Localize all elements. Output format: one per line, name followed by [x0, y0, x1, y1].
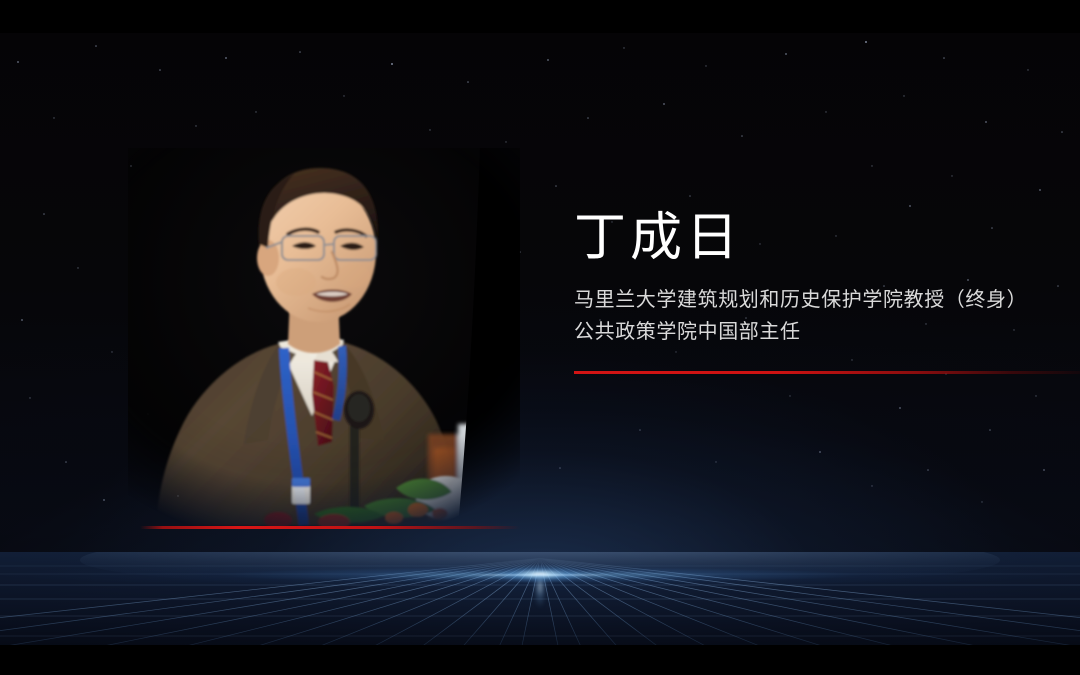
speaker-name: 丁成日 [574, 206, 1044, 270]
speaker-info: 丁成日 马里兰大学建筑规划和历史保护学院教授（终身） 公共政策学院中国部主任 [574, 206, 1044, 348]
speaker-photo-image [128, 148, 520, 526]
speaker-info-underline-rule [574, 371, 1080, 374]
speaker-photo [128, 148, 520, 526]
horizon-light-spike [520, 566, 560, 608]
photo-underline-rule [140, 526, 520, 529]
speaker-title-line-2: 公共政策学院中国部主任 [574, 316, 1044, 348]
slide-stage: 丁成日 马里兰大学建筑规划和历史保护学院教授（终身） 公共政策学院中国部主任 [0, 0, 1080, 675]
letterbox-bottom [0, 645, 1080, 675]
letterbox-top [0, 0, 1080, 33]
speaker-title-line-1: 马里兰大学建筑规划和历史保护学院教授（终身） [574, 284, 1044, 316]
speaker-titles: 马里兰大学建筑规划和历史保护学院教授（终身） 公共政策学院中国部主任 [574, 284, 1044, 348]
